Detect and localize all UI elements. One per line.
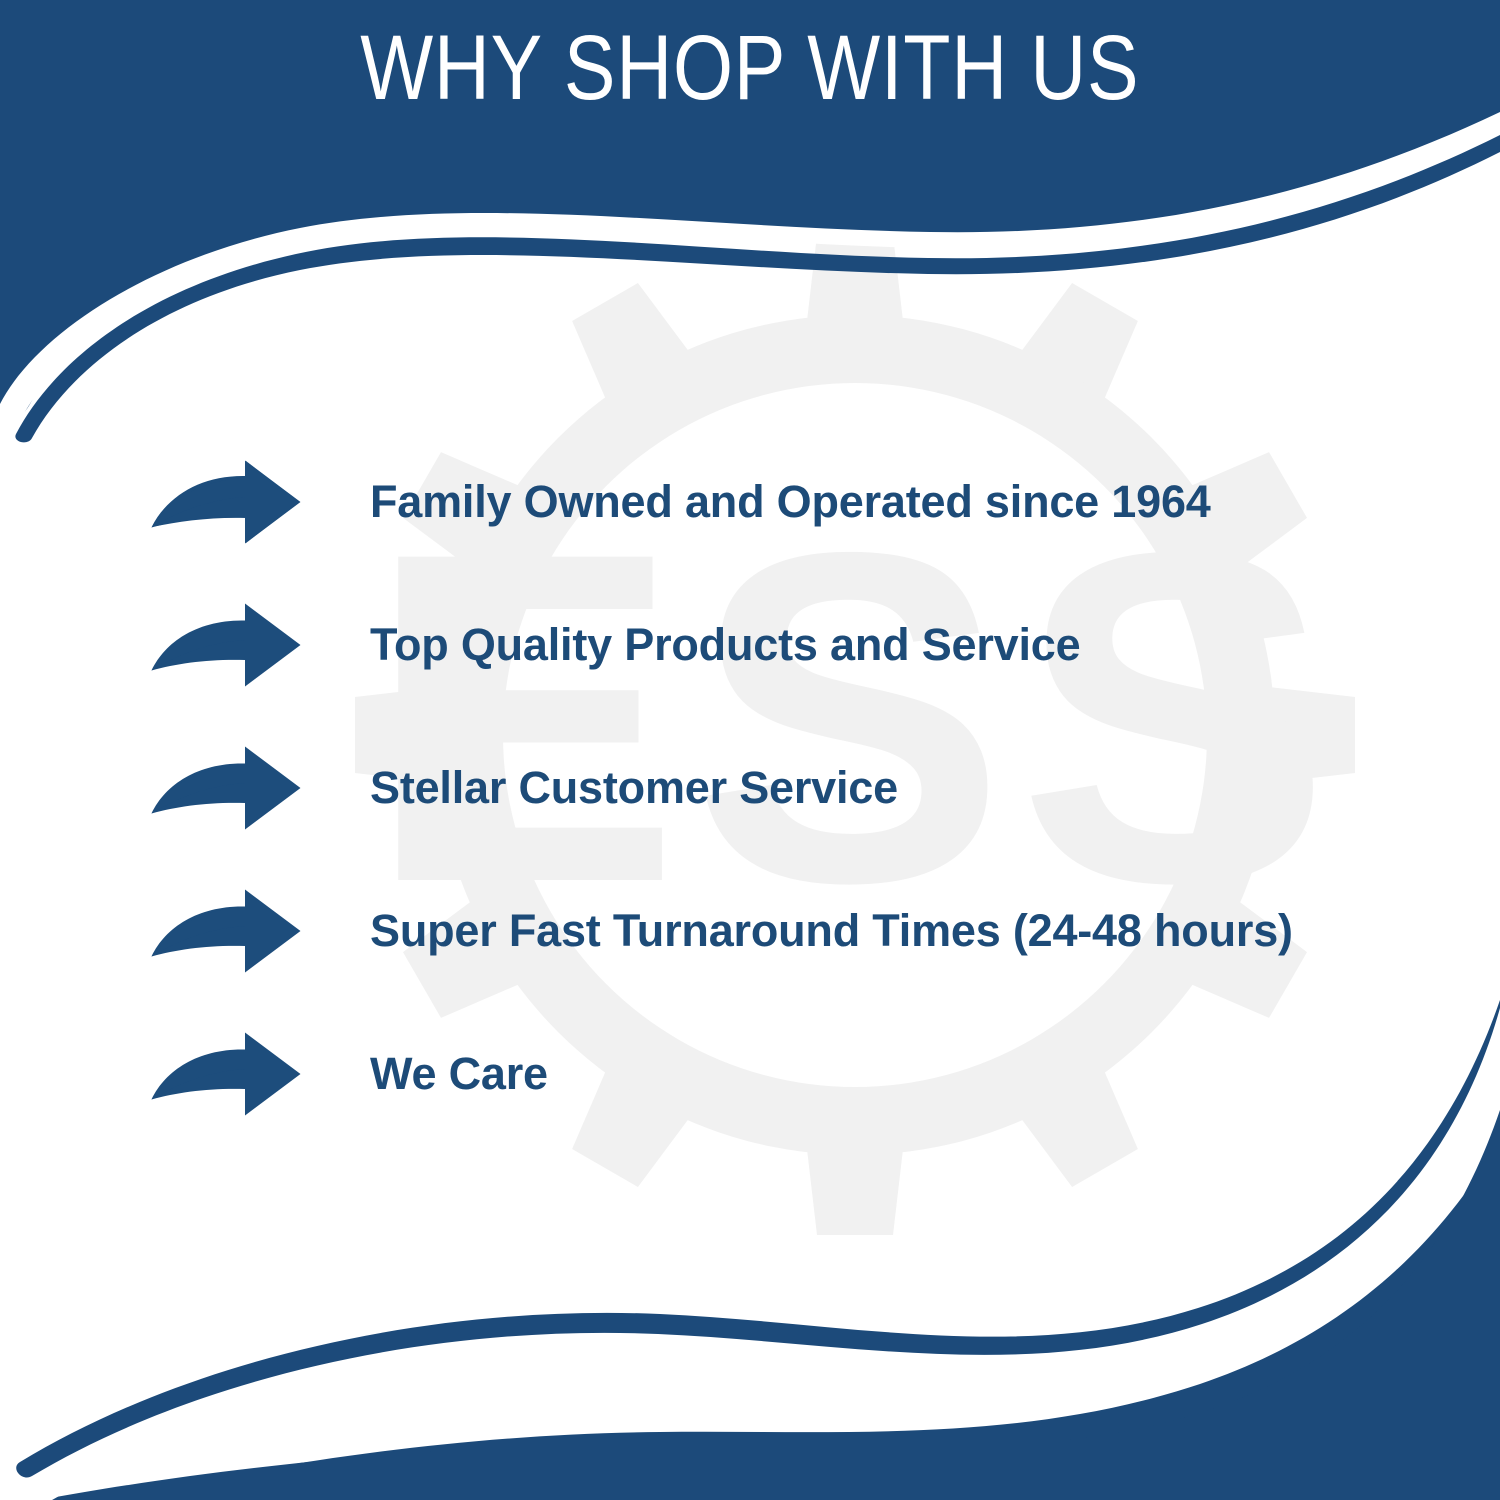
bottom-footer-fill bbox=[40, 1110, 1500, 1500]
top-white-swoosh bbox=[0, 112, 1500, 447]
list-item: We Care bbox=[0, 1002, 1500, 1145]
curved-arrow-right-icon bbox=[150, 745, 302, 831]
list-item: Top Quality Products and Service bbox=[0, 573, 1500, 716]
list-item-label: Stellar Customer Service bbox=[370, 764, 898, 811]
header: WHY SHOP WITH US bbox=[0, 0, 1500, 135]
list-item: Stellar Customer Service bbox=[0, 716, 1500, 859]
why-shop-with-us-poster: ESS WHY SHOP WITH US bbox=[0, 0, 1500, 1500]
curved-arrow-right-icon bbox=[150, 459, 302, 545]
list-item-label: Top Quality Products and Service bbox=[370, 621, 1080, 668]
curved-arrow-right-icon bbox=[150, 888, 302, 974]
list-item: Family Owned and Operated since 1964 bbox=[0, 430, 1500, 573]
list-item: Super Fast Turnaround Times (24-48 hours… bbox=[0, 859, 1500, 1002]
curved-arrow-right-icon bbox=[150, 602, 302, 688]
curved-arrow-right-icon bbox=[150, 1031, 302, 1117]
top-thin-arc bbox=[15, 135, 1500, 442]
list-item-label: Super Fast Turnaround Times (24-48 hours… bbox=[370, 907, 1293, 954]
list-item-label: Family Owned and Operated since 1964 bbox=[370, 478, 1211, 525]
benefits-list: Family Owned and Operated since 1964 Top… bbox=[0, 430, 1500, 1145]
list-item-label: We Care bbox=[370, 1050, 548, 1097]
bottom-footer-band bbox=[110, 1140, 1500, 1500]
page-title: WHY SHOP WITH US bbox=[360, 22, 1139, 114]
